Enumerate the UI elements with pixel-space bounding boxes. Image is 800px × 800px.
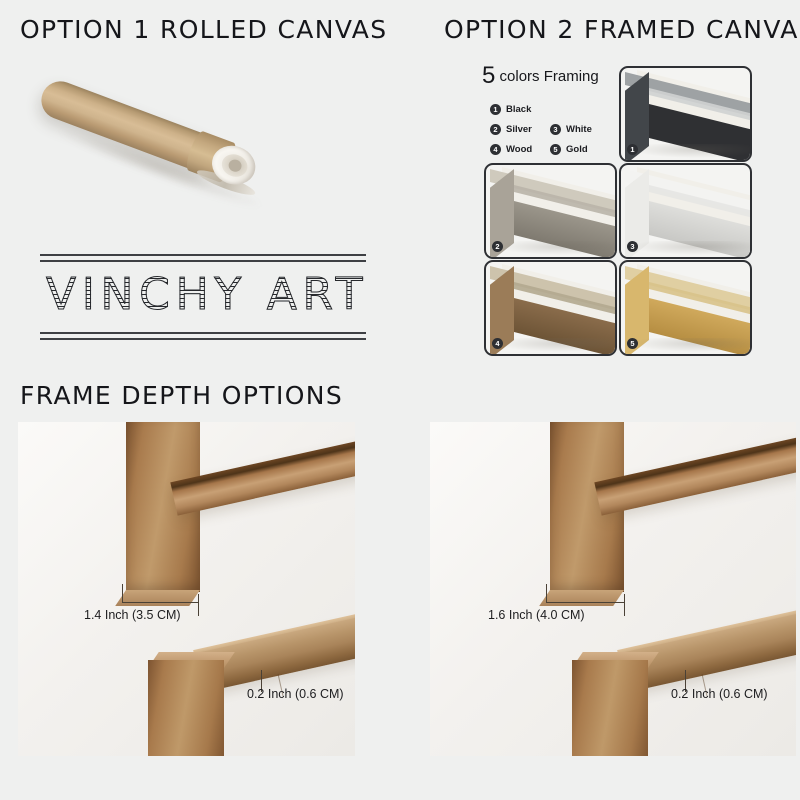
framing-count: 5 xyxy=(482,62,495,89)
frame-depth-heading: FRAME DEPTH OPTIONS xyxy=(20,381,343,410)
frame-shadow xyxy=(631,338,752,352)
legend-row: 1 Black xyxy=(490,104,614,115)
legend-row: 4 Wood 5 Gold xyxy=(490,144,614,155)
depth-dim-tick-left xyxy=(122,584,123,602)
lower-post-front xyxy=(572,660,648,756)
legend-label: Black xyxy=(506,104,531,115)
depth-dim-tick-right xyxy=(624,594,625,616)
product-info-infographic: OPTION 1 ROLLED CANVAS VINCHY ART OPTION… xyxy=(0,0,800,800)
legend-item-black: 1 Black xyxy=(490,104,550,115)
framing-title-text: colors Framing xyxy=(495,68,598,85)
legend-label: Wood xyxy=(506,144,532,155)
swatch-number-badge: 2 xyxy=(492,241,503,252)
frame-corner-icon xyxy=(621,262,750,354)
legend-number-icon: 3 xyxy=(550,124,561,135)
legend-item-wood: 4 Wood xyxy=(490,144,550,155)
swatch-number-badge: 4 xyxy=(492,338,503,349)
brand-name: VINCHY ART xyxy=(46,270,366,321)
rolled-canvas-tube-image xyxy=(28,62,296,202)
logo-rule-top-2 xyxy=(40,260,366,262)
legend-item-silver: 2 Silver xyxy=(490,124,550,135)
frame-corner-icon xyxy=(621,68,750,160)
frame-shadow xyxy=(496,338,617,352)
depth-dim-line xyxy=(122,602,198,603)
legend-item-gold: 5 Gold xyxy=(550,144,610,155)
lower-post-front xyxy=(148,660,224,756)
logo-rule-bottom-1 xyxy=(40,332,366,334)
frame-corner-icon xyxy=(486,262,615,354)
canvas-thickness-label: 0.2 Inch (0.6 CM) xyxy=(247,687,344,701)
brand-logo: VINCHY ART xyxy=(40,252,366,348)
option2-heading: OPTION 2 FRAMED CANVAS xyxy=(444,15,800,44)
frame-top-rail xyxy=(594,422,796,516)
legend-number-icon: 4 xyxy=(490,144,501,155)
option1-heading: OPTION 1 ROLLED CANVAS xyxy=(20,15,387,44)
legend-number-icon: 2 xyxy=(490,124,501,135)
frame-corner-icon xyxy=(621,165,750,257)
frame-post-bottom xyxy=(539,590,624,606)
framing-colors-legend: 5 colors Framing 1 Black 2 Silver 3 Whit… xyxy=(482,62,614,162)
logo-rule-top-1 xyxy=(40,254,366,256)
framing-legend-title: 5 colors Framing xyxy=(482,62,599,90)
legend-item-white: 3 White xyxy=(550,124,610,135)
swatch-number-badge: 1 xyxy=(627,144,638,155)
swatch-number-badge: 5 xyxy=(627,338,638,349)
frame-swatch-white[interactable]: 3 xyxy=(619,163,752,259)
frame-depth-photo-right: 1.6 Inch (4.0 CM) 0.2 Inch (0.6 CM) xyxy=(430,422,796,756)
frame-swatch-wood[interactable]: 4 xyxy=(484,260,617,356)
frame-swatch-gold[interactable]: 5 xyxy=(619,260,752,356)
frame-depth-photo-left: 1.4 Inch (3.5 CM) 0.2 Inch (0.6 CM) xyxy=(18,422,355,756)
frame-depth-label: 1.4 Inch (3.5 CM) xyxy=(84,608,181,622)
legend-number-icon: 5 xyxy=(550,144,561,155)
swatch-number-badge: 3 xyxy=(627,241,638,252)
legend-row: 2 Silver 3 White xyxy=(490,124,614,135)
canvas-thickness-label: 0.2 Inch (0.6 CM) xyxy=(671,687,768,701)
frame-post-bottom xyxy=(115,590,200,606)
depth-dim-tick-right xyxy=(198,594,199,616)
legend-label: Silver xyxy=(506,124,532,135)
depth-dim-line xyxy=(546,602,624,603)
legend-label: Gold xyxy=(566,144,588,155)
frame-shadow xyxy=(496,241,617,255)
depth-dim-tick-left xyxy=(546,584,547,602)
frame-depth-label: 1.6 Inch (4.0 CM) xyxy=(488,608,585,622)
frame-shadow xyxy=(631,241,752,255)
framing-legend-list: 1 Black 2 Silver 3 White 4 Wood xyxy=(490,104,614,164)
legend-number-icon: 1 xyxy=(490,104,501,115)
logo-rule-bottom-2 xyxy=(40,338,366,340)
tube-graphic xyxy=(0,50,295,275)
frame-shadow xyxy=(631,144,752,158)
frame-corner-icon xyxy=(486,165,615,257)
legend-label: White xyxy=(566,124,592,135)
frame-swatch-silver[interactable]: 2 xyxy=(484,163,617,259)
frame-swatch-black[interactable]: 1 xyxy=(619,66,752,162)
